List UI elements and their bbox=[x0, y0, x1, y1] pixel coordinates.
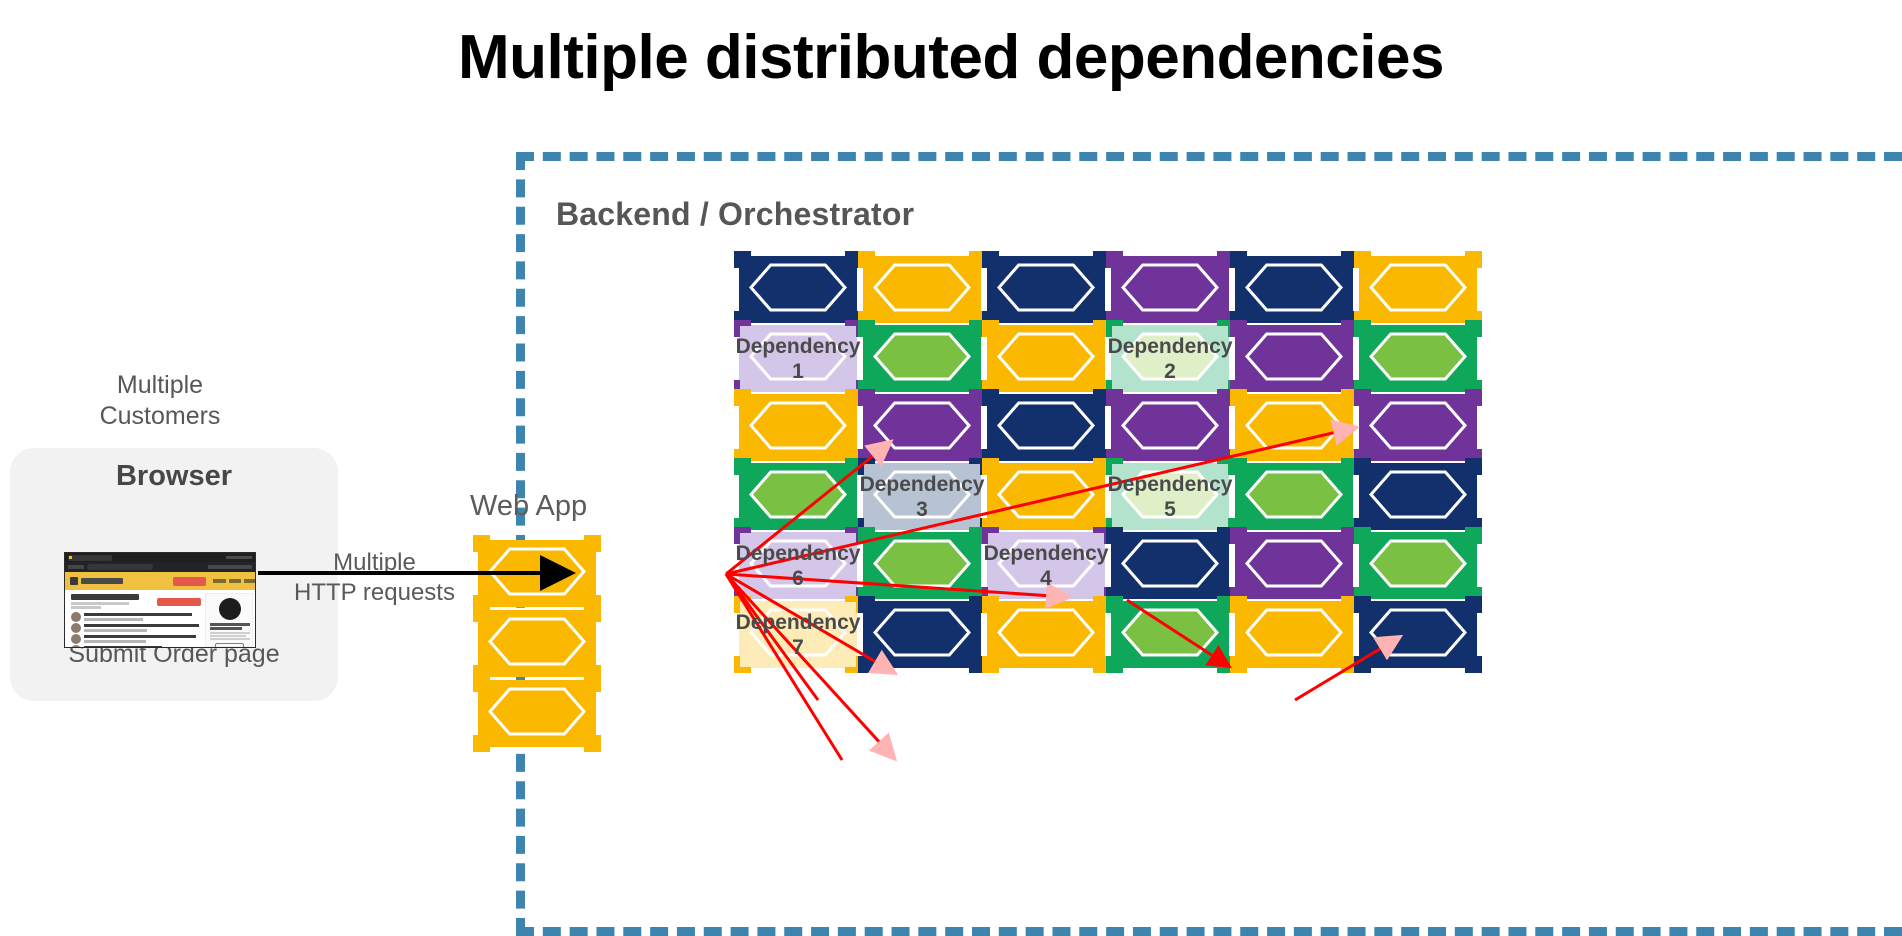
hexagon-icon bbox=[992, 259, 1100, 321]
service-card bbox=[1235, 325, 1353, 392]
item-meta bbox=[84, 640, 146, 643]
service-card bbox=[1111, 256, 1229, 323]
corner-bracket-tr bbox=[1465, 527, 1482, 544]
sidebar-title-line-2 bbox=[210, 627, 242, 630]
corner-bracket-bl bbox=[982, 656, 999, 673]
service-card bbox=[863, 532, 981, 599]
dependency-number: 6 bbox=[792, 566, 804, 591]
hexagon-icon bbox=[744, 466, 852, 528]
dependency-card-4: Dependency4 bbox=[987, 532, 1105, 599]
hexagon-icon bbox=[1240, 397, 1348, 459]
hexagon-icon bbox=[744, 397, 852, 459]
corner-bracket-tl bbox=[1230, 527, 1247, 544]
dependency-title: Dependency bbox=[1108, 334, 1233, 359]
site-logo-icon bbox=[70, 577, 78, 585]
service-card bbox=[863, 601, 981, 668]
corner-bracket-tl bbox=[858, 320, 875, 337]
hexagon-icon bbox=[483, 613, 591, 675]
dependency-number: 3 bbox=[916, 497, 928, 522]
hexagon-icon bbox=[1364, 328, 1472, 390]
dependency-title: Dependency bbox=[736, 334, 861, 359]
sidebar-para-2 bbox=[210, 635, 246, 637]
site-body bbox=[65, 590, 255, 648]
service-card bbox=[1111, 601, 1229, 668]
sidebar-para-3 bbox=[210, 638, 250, 640]
service-card bbox=[987, 325, 1105, 392]
dependency-card-5: Dependency5 bbox=[1111, 463, 1229, 530]
site-content bbox=[65, 572, 255, 648]
service-card bbox=[1235, 463, 1353, 530]
favicon-icon bbox=[69, 556, 72, 559]
slide-canvas: Multiple distributed dependencies Backen… bbox=[0, 0, 1902, 936]
corner-bracket-br bbox=[584, 735, 601, 752]
service-card bbox=[1359, 463, 1477, 530]
service-card bbox=[739, 463, 857, 530]
hexagon-icon bbox=[1364, 466, 1472, 528]
service-card bbox=[863, 325, 981, 392]
dependency-number: 5 bbox=[1164, 497, 1176, 522]
service-card bbox=[863, 394, 981, 461]
hexagon-icon bbox=[868, 535, 976, 597]
hexagon-icon bbox=[868, 259, 976, 321]
nav-item-2 bbox=[229, 579, 241, 583]
item-meta bbox=[84, 618, 143, 621]
dependency-title: Dependency bbox=[1108, 472, 1233, 497]
service-card bbox=[1359, 532, 1477, 599]
browser-urlbar bbox=[65, 562, 255, 572]
nav-item-3 bbox=[244, 579, 256, 583]
corner-bracket-tl bbox=[1230, 320, 1247, 337]
dependency-label: Dependency1 bbox=[739, 325, 857, 392]
avatar bbox=[71, 612, 81, 622]
item-title bbox=[84, 646, 162, 648]
web-app-node bbox=[478, 540, 596, 607]
hexagon-icon bbox=[1364, 259, 1472, 321]
dependency-title: Dependency bbox=[984, 541, 1109, 566]
corner-bracket-tr bbox=[584, 675, 601, 692]
hexagon-icon bbox=[1240, 604, 1348, 666]
news-list-item bbox=[71, 623, 191, 634]
news-list-item bbox=[71, 634, 191, 645]
service-card bbox=[1359, 394, 1477, 461]
corner-bracket-tr bbox=[584, 535, 601, 552]
browser-screenshot bbox=[64, 552, 256, 648]
corner-bracket-tl bbox=[1354, 596, 1371, 613]
http-requests-label: Multiple HTTP requests bbox=[262, 548, 487, 608]
hexagon-icon bbox=[868, 604, 976, 666]
dependency-title: Dependency bbox=[860, 472, 985, 497]
service-card bbox=[987, 601, 1105, 668]
corner-bracket-tl bbox=[982, 389, 999, 406]
corner-bracket-tr bbox=[584, 605, 601, 622]
hexagon-icon bbox=[992, 397, 1100, 459]
corner-bracket-tl bbox=[473, 675, 490, 692]
corner-bracket-tl bbox=[734, 458, 751, 475]
corner-bracket-tr bbox=[1465, 458, 1482, 475]
page-title: Multiple distributed dependencies bbox=[0, 22, 1902, 93]
dependency-label: Dependency3 bbox=[863, 463, 981, 530]
http-line-2: HTTP requests bbox=[262, 578, 487, 608]
hexagon-icon bbox=[868, 397, 976, 459]
corner-bracket-bl bbox=[473, 735, 490, 752]
corner-bracket-tl bbox=[1354, 527, 1371, 544]
avatar bbox=[71, 645, 81, 648]
hexagon-icon bbox=[1240, 535, 1348, 597]
hexagon-icon bbox=[1364, 535, 1472, 597]
browser-tab bbox=[68, 555, 112, 561]
corner-bracket-tl bbox=[473, 605, 490, 622]
item-title bbox=[84, 613, 192, 616]
corner-bracket-bl bbox=[1106, 656, 1123, 673]
site-header bbox=[65, 572, 255, 590]
dependency-label: Dependency5 bbox=[1111, 463, 1229, 530]
customers-line-1: Multiple bbox=[40, 370, 280, 401]
service-card bbox=[987, 394, 1105, 461]
item-title bbox=[84, 624, 199, 627]
dependency-title: Dependency bbox=[736, 610, 861, 635]
corner-bracket-tl bbox=[1354, 251, 1371, 268]
customers-line-2: Customers bbox=[40, 401, 280, 432]
corner-bracket-tr bbox=[1465, 389, 1482, 406]
item-meta bbox=[84, 629, 147, 632]
corner-bracket-tr bbox=[1465, 320, 1482, 337]
service-card bbox=[1235, 256, 1353, 323]
corner-bracket-tl bbox=[982, 320, 999, 337]
hexagon-icon bbox=[1116, 259, 1224, 321]
dependency-label: Dependency2 bbox=[1111, 325, 1229, 392]
news-subtitle-2 bbox=[71, 606, 101, 609]
item-title bbox=[84, 635, 196, 638]
toolbar-icons bbox=[208, 565, 252, 569]
corner-bracket-tl bbox=[1106, 251, 1123, 268]
corner-bracket-bl bbox=[1354, 656, 1371, 673]
service-card bbox=[863, 256, 981, 323]
news-subtitle-1 bbox=[71, 602, 129, 605]
dependency-card-7: Dependency7 bbox=[739, 601, 857, 668]
sidebar-para-1 bbox=[210, 632, 250, 634]
course-badge-icon bbox=[219, 598, 241, 620]
dependency-number: 2 bbox=[1164, 359, 1176, 384]
submit-story-button bbox=[157, 598, 201, 606]
web-app-node bbox=[478, 680, 596, 747]
nav-buttons-icon bbox=[68, 565, 84, 569]
sidebar-title-line-1 bbox=[210, 623, 250, 626]
avatar bbox=[71, 623, 81, 633]
dependency-title: Dependency bbox=[736, 541, 861, 566]
hexagon-icon bbox=[1240, 259, 1348, 321]
corner-bracket-bl bbox=[1230, 656, 1247, 673]
service-card bbox=[987, 256, 1105, 323]
corner-bracket-tl bbox=[1106, 596, 1123, 613]
service-card bbox=[1111, 532, 1229, 599]
service-card bbox=[1359, 325, 1477, 392]
dependency-label: Dependency7 bbox=[739, 601, 857, 668]
dependency-label: Dependency4 bbox=[987, 532, 1105, 599]
corner-bracket-tr bbox=[1465, 596, 1482, 613]
corner-bracket-tl bbox=[1354, 458, 1371, 475]
address-field bbox=[87, 564, 153, 570]
service-card bbox=[1111, 394, 1229, 461]
hexagon-icon bbox=[483, 543, 591, 605]
hexagon-icon bbox=[744, 259, 852, 321]
dependency-label: Dependency6 bbox=[739, 532, 857, 599]
news-list-item bbox=[71, 645, 191, 648]
browser-label: Browser bbox=[10, 460, 338, 493]
corner-bracket-tl bbox=[1230, 458, 1247, 475]
view-course-button bbox=[215, 643, 244, 648]
hexagon-icon bbox=[868, 328, 976, 390]
corner-bracket-tl bbox=[858, 389, 875, 406]
corner-bracket-tl bbox=[982, 251, 999, 268]
corner-bracket-bl bbox=[858, 656, 875, 673]
hexagon-icon bbox=[1364, 604, 1472, 666]
dependency-number: 7 bbox=[792, 635, 804, 660]
service-card bbox=[1359, 601, 1477, 668]
corner-bracket-tl bbox=[1230, 389, 1247, 406]
hexagon-icon bbox=[992, 328, 1100, 390]
corner-bracket-tl bbox=[734, 251, 751, 268]
corner-bracket-tl bbox=[1354, 320, 1371, 337]
hexagon-icon bbox=[1116, 604, 1224, 666]
web-app-node bbox=[478, 610, 596, 677]
hexagon-icon bbox=[992, 604, 1100, 666]
http-line-1: Multiple bbox=[262, 548, 487, 578]
browser-tabbar bbox=[65, 553, 255, 562]
dependency-number: 4 bbox=[1040, 566, 1052, 591]
multiple-customers-label: Multiple Customers bbox=[40, 370, 280, 432]
service-card bbox=[1359, 256, 1477, 323]
hexagon-icon bbox=[992, 466, 1100, 528]
corner-bracket-tl bbox=[1354, 389, 1371, 406]
web-app-label: Web App bbox=[470, 490, 587, 523]
dependency-card-6: Dependency6 bbox=[739, 532, 857, 599]
service-card bbox=[739, 256, 857, 323]
sidebar-card bbox=[205, 593, 253, 647]
dependency-number: 1 bbox=[792, 359, 804, 384]
hexagon-icon bbox=[483, 683, 591, 745]
corner-bracket-tl bbox=[1230, 251, 1247, 268]
corner-bracket-tl bbox=[858, 596, 875, 613]
service-card bbox=[1235, 394, 1353, 461]
service-card bbox=[1235, 601, 1353, 668]
dependency-card-2: Dependency2 bbox=[1111, 325, 1229, 392]
hexagon-icon bbox=[1240, 328, 1348, 390]
news-headline bbox=[71, 594, 139, 600]
corner-bracket-tl bbox=[473, 535, 490, 552]
backend-orchestrator-label: Backend / Orchestrator bbox=[556, 196, 914, 233]
service-card bbox=[739, 394, 857, 461]
news-list-item bbox=[71, 612, 191, 623]
corner-bracket-tl bbox=[858, 251, 875, 268]
hexagon-icon bbox=[1364, 397, 1472, 459]
corner-bracket-tr bbox=[1465, 251, 1482, 268]
site-brand bbox=[81, 578, 123, 584]
corner-bracket-br bbox=[1465, 656, 1482, 673]
hexagon-icon bbox=[1116, 535, 1224, 597]
try-javascript-button bbox=[173, 577, 206, 586]
corner-bracket-tl bbox=[1230, 596, 1247, 613]
service-card bbox=[1235, 532, 1353, 599]
dependency-card-1: Dependency1 bbox=[739, 325, 857, 392]
hexagon-icon bbox=[1240, 466, 1348, 528]
service-card bbox=[987, 463, 1105, 530]
dependency-card-3: Dependency3 bbox=[863, 463, 981, 530]
avatar bbox=[71, 634, 81, 644]
nav-item-1 bbox=[213, 579, 226, 583]
hexagon-icon bbox=[1116, 397, 1224, 459]
corner-bracket-tl bbox=[982, 458, 999, 475]
window-controls-icon bbox=[226, 556, 252, 559]
